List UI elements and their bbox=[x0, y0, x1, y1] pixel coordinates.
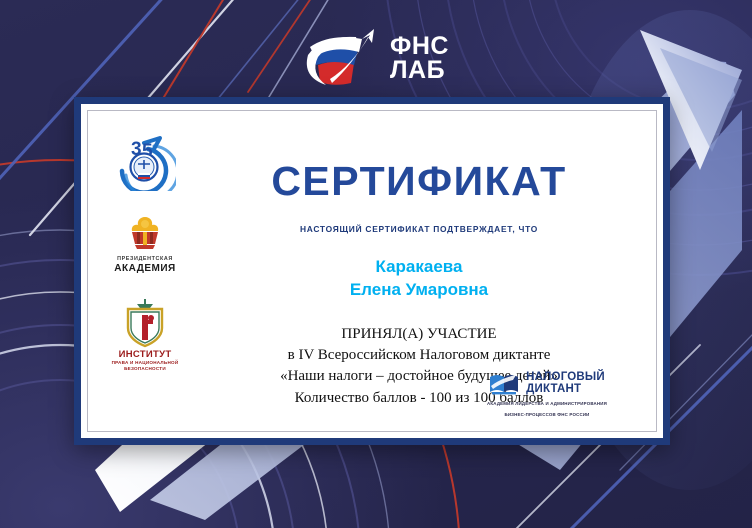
academy-emblem-icon bbox=[123, 215, 167, 253]
open-book-icon bbox=[489, 372, 519, 396]
body-line-2: в IV Всероссийском Налоговом диктанте bbox=[192, 345, 646, 366]
nalogovy-diktant-logo: НАЛОГОВЫЙ ДИКТАНТ АКАДЕМИЯ ЛИДЕРСТВА И А… bbox=[452, 372, 642, 419]
institute-line1: ИНСТИТУТ bbox=[119, 350, 172, 360]
institute-line3: БЕЗОПАСНОСТИ bbox=[124, 366, 166, 372]
diktant-sub1: АКАДЕМИЯ ЛИДЕРСТВА И АДМИНИСТРИРОВАНИЯ bbox=[452, 401, 642, 408]
recipient-given-name: Елена Умаровна bbox=[192, 279, 646, 302]
diktant-sub2: БИЗНЕС-ПРОЦЕССОВ ФНС РОССИИ bbox=[452, 412, 642, 419]
diktant-wordmark: НАЛОГОВЫЙ ДИКТАНТ bbox=[526, 372, 605, 395]
recipient-name: Каракаева Елена Умаровна bbox=[192, 256, 646, 302]
institute-shield-icon bbox=[122, 298, 168, 348]
diktant-word2: ДИКТАНТ bbox=[526, 384, 605, 396]
certificate-paper: 3 5 bbox=[81, 104, 663, 438]
academy-line1: ПРЕЗИДЕНТСКАЯ bbox=[117, 256, 173, 263]
certificate-card: 3 5 bbox=[74, 97, 670, 445]
fns-lab-logo: ФНС ЛАБ bbox=[296, 22, 476, 94]
fns-lab-mark-icon bbox=[296, 25, 382, 91]
recipient-surname: Каракаева bbox=[192, 256, 646, 279]
partner-logos-column: 3 5 bbox=[102, 133, 188, 423]
presidential-academy-logo: ПРЕЗИДЕНТСКАЯ АКАДЕМИЯ bbox=[104, 215, 186, 274]
certificate-subtitle: НАСТОЯЩИЙ СЕРТИФИКАТ ПОДТВЕРЖДАЕТ, ЧТО bbox=[192, 224, 646, 234]
anniversary-35-icon: 3 5 bbox=[114, 133, 176, 191]
certificate-inner-frame: 3 5 bbox=[87, 110, 657, 432]
body-line-1: ПРИНЯЛ(А) УЧАСТИЕ bbox=[192, 324, 646, 345]
certificate-title: СЕРТИФИКАТ bbox=[192, 161, 646, 202]
institute-logo: ИНСТИТУТ ПРАВА И НАЦИОНАЛЬНОЙ БЕЗОПАСНОС… bbox=[104, 298, 186, 372]
academy-line2: АКАДЕМИЯ bbox=[114, 263, 175, 274]
fns-lab-line1: ФНС bbox=[390, 34, 449, 59]
certificate-canvas: ФНС ЛАБ 3 5 bbox=[0, 0, 752, 528]
fns-lab-line2: ЛАБ bbox=[390, 58, 449, 83]
fns-35-anniversary-logo: 3 5 bbox=[104, 133, 186, 191]
fns-lab-wordmark: ФНС ЛАБ bbox=[390, 34, 449, 83]
